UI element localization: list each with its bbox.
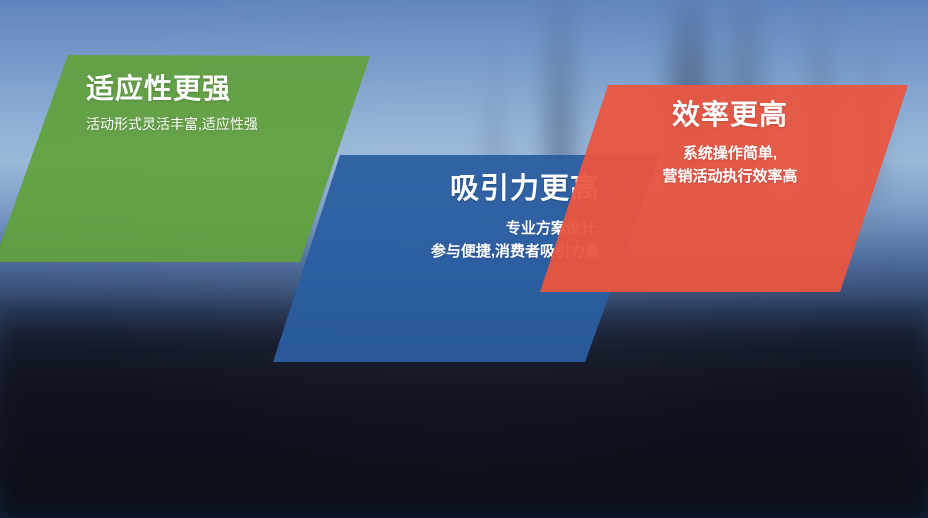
green-card-description-line-1: 活动形式灵活丰富,适应性强 (86, 114, 258, 136)
promo-banner: 适应性更强 活动形式灵活丰富,适应性强 吸引力更高 专业方案设计, 参与便捷,消… (0, 0, 928, 518)
red-card-text: 效率更高 系统操作简单, 营销活动执行效率高 (560, 98, 900, 188)
red-card-description-line-2: 营销活动执行效率高 (560, 165, 900, 188)
feature-card-efficiency[interactable]: 效率更高 系统操作简单, 营销活动执行效率高 (520, 70, 928, 310)
green-card-title: 适应性更强 (86, 72, 258, 106)
red-card-description-line-1: 系统操作简单, (560, 142, 900, 165)
red-card-title: 效率更高 (560, 98, 900, 132)
green-card-text: 适应性更强 活动形式灵活丰富,适应性强 (86, 72, 258, 135)
